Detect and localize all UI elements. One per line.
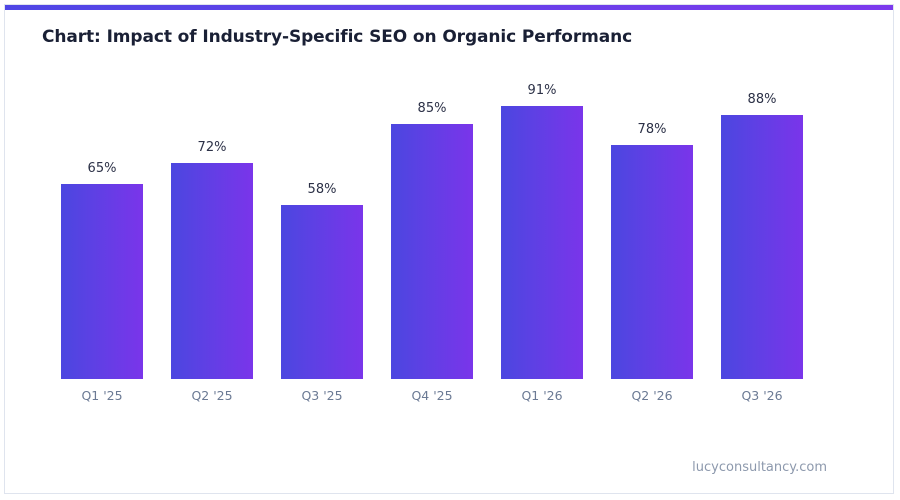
watermark-label: lucyconsultancy.com bbox=[692, 460, 827, 475]
x-axis-tick-label: Q1 '25 bbox=[61, 388, 143, 403]
bar[interactable] bbox=[281, 205, 363, 379]
x-axis-tick-label: Q2 '25 bbox=[171, 388, 253, 403]
x-axis-tick-label: Q2 '26 bbox=[611, 388, 693, 403]
bar-value-label: 78% bbox=[611, 122, 693, 137]
bars-container: 65%Q1 '2572%Q2 '2558%Q3 '2585%Q4 '2591%Q… bbox=[61, 5, 841, 494]
bar-value-label: 85% bbox=[391, 101, 473, 116]
bar-value-label: 65% bbox=[61, 161, 143, 176]
bar-chart-plot-area: 65%Q1 '2572%Q2 '2558%Q3 '2585%Q4 '2591%Q… bbox=[5, 5, 894, 494]
bar[interactable] bbox=[171, 163, 253, 379]
bar[interactable] bbox=[501, 106, 583, 379]
bar[interactable] bbox=[61, 184, 143, 379]
x-axis-tick-label: Q4 '25 bbox=[391, 388, 473, 403]
chart-card: Chart: Impact of Industry-Specific SEO o… bbox=[4, 4, 894, 494]
x-axis-tick-label: Q1 '26 bbox=[501, 388, 583, 403]
bar-value-label: 91% bbox=[501, 83, 583, 98]
bar-value-label: 88% bbox=[721, 92, 803, 107]
x-axis-tick-label: Q3 '26 bbox=[721, 388, 803, 403]
bar[interactable] bbox=[611, 145, 693, 379]
bar[interactable] bbox=[391, 124, 473, 379]
x-axis-tick-label: Q3 '25 bbox=[281, 388, 363, 403]
bar-value-label: 72% bbox=[171, 140, 253, 155]
bar[interactable] bbox=[721, 115, 803, 379]
bar-value-label: 58% bbox=[281, 182, 363, 197]
